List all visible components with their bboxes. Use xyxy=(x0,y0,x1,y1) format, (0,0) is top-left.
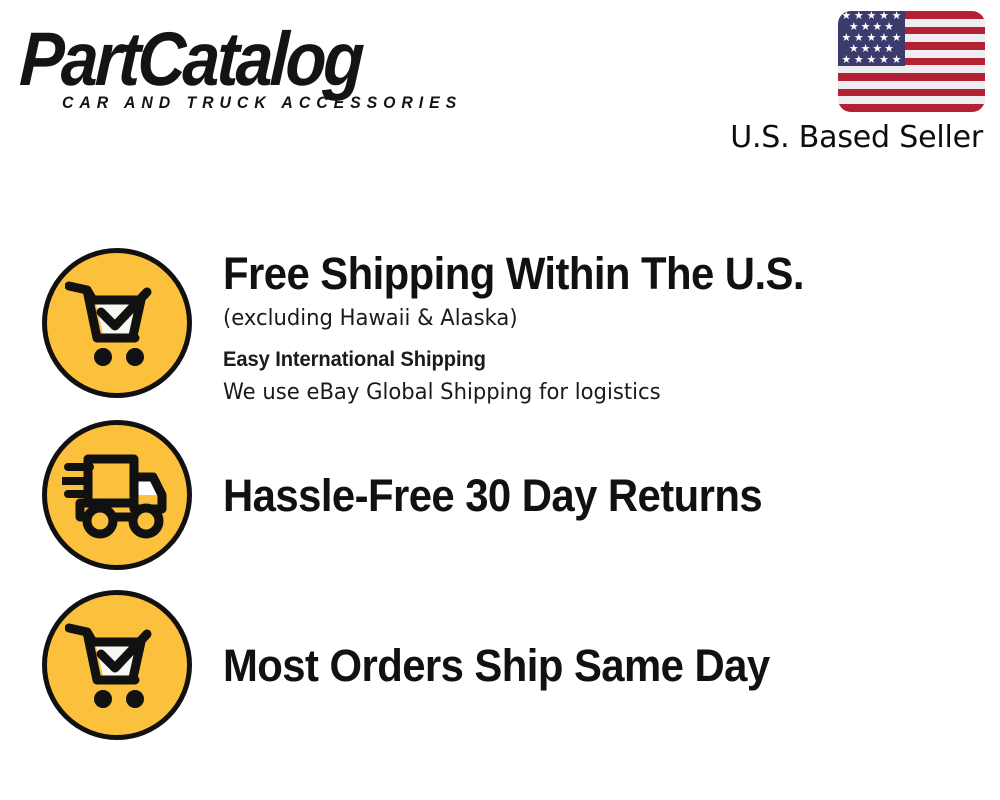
brand-tagline: CAR AND TRUCK ACCESSORIES xyxy=(62,94,462,113)
feature-row: Most Orders Ship Same Day xyxy=(0,590,1000,760)
flag-star-row: ★★★★★ xyxy=(838,55,905,66)
shopping-cart-check-icon xyxy=(42,248,192,398)
flag-star-row: ★★★★ xyxy=(838,44,905,55)
feature-row: Free Shipping Within The U.S. (excluding… xyxy=(0,248,1000,418)
shopping-cart-check-icon xyxy=(42,590,192,740)
brand-logo: PartCatalog CAR AND TRUCK ACCESSORIES xyxy=(22,18,492,118)
feature-note: (excluding Hawaii & Alaska) xyxy=(223,304,953,334)
feature-row: Hassle-Free 30 Day Returns xyxy=(0,420,1000,590)
us-based-seller-badge: ★★★★★ ★★★★ ★★★★★ ★★★★ ★★★★★ U.S. Based S… xyxy=(685,11,985,156)
delivery-truck-icon xyxy=(42,420,192,570)
feature-title: Free Shipping Within The U.S. xyxy=(223,248,930,300)
us-flag-icon: ★★★★★ ★★★★ ★★★★★ ★★★★ ★★★★★ xyxy=(838,11,985,112)
feature-title: Most Orders Ship Same Day xyxy=(223,640,930,692)
feature-text: Most Orders Ship Same Day xyxy=(223,640,983,692)
promo-banner: PartCatalog CAR AND TRUCK ACCESSORIES ★★… xyxy=(0,0,1000,800)
feature-text: Hassle-Free 30 Day Returns xyxy=(223,470,983,522)
feature-text: Free Shipping Within The U.S. (excluding… xyxy=(223,248,983,408)
brand-wordmark: PartCatalog xyxy=(18,14,364,106)
flag-canton: ★★★★★ ★★★★ ★★★★★ ★★★★ ★★★★★ xyxy=(838,11,905,66)
feature-title: Hassle-Free 30 Day Returns xyxy=(223,470,930,522)
feature-subnote: We use eBay Global Shipping for logistic… xyxy=(223,378,953,408)
seller-label: U.S. Based Seller xyxy=(685,120,985,156)
feature-subtitle: Easy International Shipping xyxy=(223,344,953,376)
